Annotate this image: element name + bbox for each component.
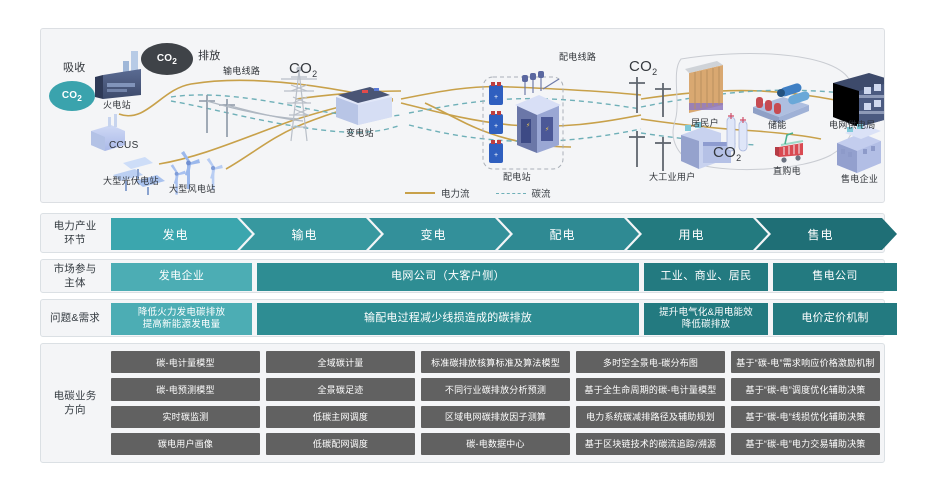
label-substation: 变电站	[346, 129, 374, 138]
stage-chevron-0[interactable]: 发电	[111, 218, 252, 250]
row-label-line1: 电力产业	[54, 220, 97, 232]
needs-label-3: 电价定价机制	[801, 312, 868, 326]
biz-cell-r3c1[interactable]: 低碳配网调度	[266, 433, 415, 455]
biz-cell-r0c4[interactable]: 基于“碳-电”需求响应价格激励机制	[731, 351, 880, 373]
row-label-line2: 方向	[64, 404, 85, 416]
needs-block-2[interactable]: 提升电气化&用电能效 降低碳排放	[644, 303, 768, 335]
market-block-0[interactable]: 发电企业	[111, 263, 252, 291]
needs-block-0[interactable]: 降低火力发电碳排放 提高新能源发电量	[111, 303, 252, 335]
biz-cell-r1c2[interactable]: 不同行业碳排放分析预测	[421, 378, 570, 400]
legend-carbon-flow: 碳流	[496, 186, 551, 200]
label-wind-station: 大型风电站	[169, 185, 216, 194]
market-label-1: 电网公司（大客户侧）	[391, 270, 505, 284]
power-flow-line-swatch	[405, 192, 435, 194]
biz-cell-r0c1[interactable]: 全域碳计量	[266, 351, 415, 373]
market-block-1[interactable]: 电网公司（大客户侧）	[257, 263, 639, 291]
carbon-flow-line-swatch	[496, 193, 526, 194]
stage-label-4: 用电	[678, 226, 704, 243]
biz-cell-r0c2[interactable]: 标准碳排放核算标准及算法模型	[421, 351, 570, 373]
chevron-track: 发电 输电 变电 配电 用电 售电	[111, 218, 880, 250]
label-grid-supply-bureau: 电网供电局	[829, 121, 876, 130]
biz-cell-r1c4[interactable]: 基于“碳-电”调度优化辅助决策	[731, 378, 880, 400]
label-ccus: CCUS	[109, 141, 139, 151]
label-transmission-line: 输电线路	[223, 67, 260, 76]
needs-label-1: 输配电过程减少线损造成的碳排放	[364, 312, 532, 326]
label-emission: 排放	[198, 51, 221, 62]
row-market-participants: 市场参与 主体 发电企业 电网公司（大客户侧） 工业、商业、居民 售电公司	[40, 259, 885, 293]
label-retail-enterprise: 售电企业	[841, 175, 878, 184]
row-label-business-directions: 电碳业务 方向	[41, 344, 109, 462]
label-storage: 储能	[768, 121, 787, 130]
row-label-line1: 市场参与	[54, 263, 97, 275]
label-distribution-line: 配电线路	[559, 53, 596, 62]
co2-emission-label: CO2	[157, 53, 177, 66]
biz-cell-r0c0[interactable]: 碳-电计量模型	[111, 351, 260, 373]
stage-chevron-4[interactable]: 用电	[627, 218, 768, 250]
row-body-problems-needs: 降低火力发电碳排放 提高新能源发电量 输配电过程减少线损造成的碳排放 提升电气化…	[111, 300, 880, 336]
label-thermal-plant: 火电站	[103, 101, 131, 110]
biz-cell-r2c1[interactable]: 低碳主网调度	[266, 406, 415, 428]
distribution-poles-left	[199, 95, 235, 137]
energy-carbon-flow-diagram: + + +	[40, 28, 885, 203]
stage-chevron-1[interactable]: 输电	[240, 218, 381, 250]
legend-power-flow-label: 电力流	[441, 186, 470, 200]
label-residential: 居民户	[691, 119, 719, 128]
direct-purchase-cart-icon	[775, 133, 803, 163]
needs-label-2-line1: 提升电气化&用电能效	[659, 307, 753, 318]
label-direct-purchase: 直购电	[773, 167, 801, 176]
co2-emission-cloud: CO2	[141, 43, 193, 75]
svg-text:+: +	[494, 152, 498, 159]
row-label-line2: 环节	[64, 234, 85, 246]
biz-cell-r0c3[interactable]: 多时空全景电-碳分布图	[576, 351, 725, 373]
label-absorb: 吸收	[63, 63, 86, 74]
row-label-line2: 主体	[64, 277, 85, 289]
diagram-legend: 电力流 碳流	[405, 186, 551, 200]
distribution-transformer-icon: ⚡ ⚡	[515, 71, 561, 153]
stage-label-1: 输电	[291, 226, 317, 243]
needs-label-2-line2: 降低碳排放	[682, 319, 731, 330]
stage-label-5: 售电	[807, 226, 833, 243]
stage-chevron-5[interactable]: 售电	[756, 218, 897, 250]
needs-label-0-line1: 降低火力发电碳排放	[138, 307, 225, 318]
row-industry-stages: 电力产业 环节 发电 输电 变电 配电 用电	[40, 213, 885, 253]
needs-block-1[interactable]: 输配电过程减少线损造成的碳排放	[257, 303, 639, 335]
biz-cell-r1c3[interactable]: 基于全生命周期的碳-电计量模型	[576, 378, 725, 400]
stage-label-0: 发电	[162, 226, 188, 243]
retail-enterprise-icon	[837, 124, 881, 173]
co2-absorb-cloud: CO2	[49, 81, 95, 111]
distribution-poles-right	[629, 77, 671, 171]
biz-cell-r1c1[interactable]: 全景碳足迹	[266, 378, 415, 400]
biz-cell-r3c2[interactable]: 碳-电数据中心	[421, 433, 570, 455]
label-distribution-station: 配电站	[503, 173, 531, 182]
stage-chevron-3[interactable]: 配电	[498, 218, 639, 250]
market-label-2: 工业、商业、居民	[660, 270, 751, 284]
thermal-power-plant-icon	[95, 51, 141, 99]
market-label-3: 售电公司	[812, 270, 858, 284]
row-label-industry-stages: 电力产业 环节	[41, 214, 109, 252]
energy-storage-icon	[753, 82, 811, 123]
business-directions-grid: 碳-电计量模型 全域碳计量 标准碳排放核算标准及算法模型 多时空全景电-碳分布图…	[111, 351, 880, 455]
stage-label-3: 配电	[549, 226, 575, 243]
svg-text:+: +	[494, 123, 498, 130]
substation-icon	[336, 87, 392, 125]
label-co2-residential: CO2	[629, 59, 657, 77]
svg-text:⚡: ⚡	[545, 126, 549, 133]
label-pv-station: 大型光伏电站	[103, 177, 159, 186]
biz-cell-r3c0[interactable]: 碳电用户画像	[111, 433, 260, 455]
row-label-line1: 问题&需求	[50, 311, 100, 325]
residential-building-icon	[685, 61, 723, 113]
biz-cell-r2c4[interactable]: 基于“碳-电”线损优化辅助决策	[731, 406, 880, 428]
svg-text:⚡: ⚡	[526, 122, 530, 129]
biz-cell-r2c2[interactable]: 区域电网碳排放因子测算	[421, 406, 570, 428]
row-label-problems-needs: 问题&需求	[41, 300, 109, 336]
stage-chevron-2[interactable]: 变电	[369, 218, 510, 250]
row-body-business-directions: 碳-电计量模型 全域碳计量 标准碳排放核算标准及算法模型 多时空全景电-碳分布图…	[111, 344, 880, 462]
legend-power-flow: 电力流	[405, 186, 470, 200]
battery-icons: + + +	[489, 82, 503, 163]
row-body-market-participants: 发电企业 电网公司（大客户侧） 工业、商业、居民 售电公司	[111, 260, 880, 292]
legend-carbon-flow-label: 碳流	[532, 186, 551, 200]
label-large-industry: 大工业用户	[649, 173, 696, 182]
infographic-root: + + +	[0, 0, 925, 490]
row-label-line1: 电碳业务	[54, 390, 97, 402]
co2-absorb-label: CO2	[62, 90, 82, 103]
svg-text:+: +	[494, 94, 498, 101]
biz-cell-r1c0[interactable]: 碳-电预测模型	[111, 378, 260, 400]
market-label-0: 发电企业	[159, 270, 205, 284]
label-co2-industry: CO2	[713, 145, 741, 163]
needs-label-0-line2: 提高新能源发电量	[143, 319, 221, 330]
market-block-2[interactable]: 工业、商业、居民	[644, 263, 768, 291]
needs-block-3[interactable]: 电价定价机制	[773, 303, 897, 335]
grid-supply-bureau-icon	[833, 73, 885, 127]
row-business-directions: 电碳业务 方向 碳-电计量模型 全域碳计量 标准碳排放核算标准及算法模型 多时空…	[40, 343, 885, 463]
stage-label-2: 变电	[420, 226, 446, 243]
market-block-3[interactable]: 售电公司	[773, 263, 897, 291]
label-co2-transmission: CO2	[289, 61, 317, 79]
biz-cell-r3c3[interactable]: 基于区块链技术的碳流追踪/溯源	[576, 433, 725, 455]
biz-cell-r2c0[interactable]: 实时碳监测	[111, 406, 260, 428]
row-label-market-participants: 市场参与 主体	[41, 260, 109, 292]
biz-cell-r2c3[interactable]: 电力系统碳减排路径及辅助规划	[576, 406, 725, 428]
row-problems-needs: 问题&需求 降低火力发电碳排放 提高新能源发电量 输配电过程减少线损造成的碳排放…	[40, 299, 885, 337]
biz-cell-r3c4[interactable]: 基于“碳-电”电力交易辅助决策	[731, 433, 880, 455]
row-body-industry-stages: 发电 输电 变电 配电 用电 售电	[111, 214, 880, 252]
